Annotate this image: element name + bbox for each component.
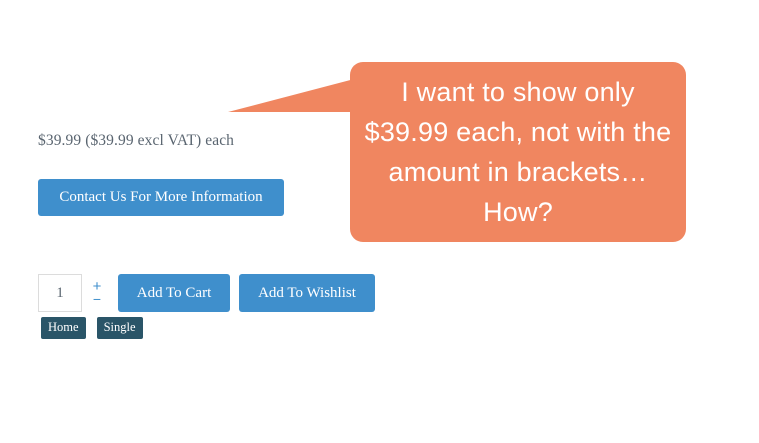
contact-us-button[interactable]: Contact Us For More Information [38,179,284,216]
quantity-input[interactable] [38,274,82,312]
product-detail-area: $39.99 ($39.99 excl VAT) each Contact Us… [0,0,759,443]
quantity-decrease-button[interactable]: − [87,293,107,306]
annotation-callout-bubble: I want to show only $39.99 each, not wit… [350,62,686,242]
product-tag-single[interactable]: Single [97,317,143,339]
product-price-text: $39.99 ($39.99 excl VAT) each [38,132,234,150]
add-to-cart-row: + − Add To Cart Add To Wishlist [38,274,375,312]
add-to-wishlist-button[interactable]: Add To Wishlist [239,274,375,312]
product-tag-home[interactable]: Home [41,317,86,339]
product-tag-list: Home Single [41,317,143,339]
add-to-cart-button[interactable]: Add To Cart [118,274,230,312]
annotation-callout-text: I want to show only $39.99 each, not wit… [350,72,686,232]
quantity-stepper: + − [84,274,110,312]
callout-pointer-tail [228,70,358,126]
